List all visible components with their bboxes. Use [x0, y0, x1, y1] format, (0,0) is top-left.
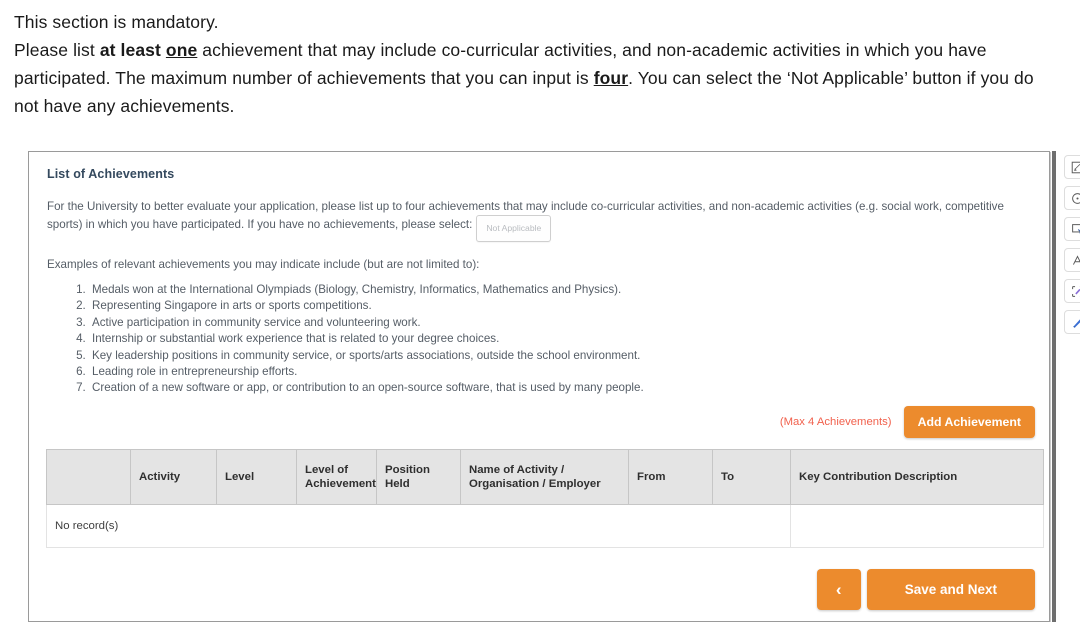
- page-title: List of Achievements: [47, 167, 1035, 181]
- intro-underline-one: one: [166, 40, 197, 60]
- column-header-position-held: Position Held: [377, 450, 461, 505]
- column-header-level: Level: [217, 450, 297, 505]
- intro-underline-four: four: [594, 68, 628, 88]
- table-row: No record(s): [47, 505, 1044, 548]
- list-item: Creation of a new software or app, or co…: [89, 380, 1035, 396]
- intro-line-2: Please list at least one achievement tha…: [14, 36, 1060, 120]
- column-header-key-contribution: Key Contribution Description: [791, 450, 1044, 505]
- list-item: Key leadership positions in community se…: [89, 348, 1035, 364]
- achievements-table-wrapper: Activity Level Level of Achievement Posi…: [46, 449, 1044, 548]
- list-item: Representing Singapore in arts or sports…: [89, 298, 1035, 314]
- footer-button-group: ‹ Save and Next: [817, 569, 1035, 610]
- save-and-next-button[interactable]: Save and Next: [867, 569, 1035, 610]
- column-header-from: From: [629, 450, 713, 505]
- annotation-toolbar: [1064, 155, 1080, 334]
- intro-text-part-1: Please list: [14, 40, 100, 60]
- max-achievements-note: (Max 4 Achievements): [780, 416, 892, 428]
- text-annotation-icon[interactable]: [1064, 248, 1080, 272]
- column-header-to: To: [713, 450, 791, 505]
- add-achievement-row: (Max 4 Achievements) Add Achievement: [780, 406, 1035, 438]
- panel-scrollbar[interactable]: [1052, 151, 1056, 622]
- empty-state-message: No record(s): [47, 505, 791, 548]
- intro-bold-at-least: at least: [100, 40, 166, 60]
- intro-text: This section is mandatory. Please list a…: [14, 8, 1060, 120]
- empty-state-filler: [791, 505, 1044, 548]
- highlighter-pen-icon[interactable]: [1064, 310, 1080, 334]
- edit-annotation-icon[interactable]: [1064, 155, 1080, 179]
- previous-button[interactable]: ‹: [817, 569, 861, 610]
- column-header-level-of-achievement: Level of Achievement: [297, 450, 377, 505]
- list-item: Active participation in community servic…: [89, 315, 1035, 331]
- highlight-select-icon[interactable]: [1064, 279, 1080, 303]
- list-item: Medals won at the International Olympiad…: [89, 282, 1035, 298]
- column-header-select: [47, 450, 131, 505]
- achievements-panel: List of Achievements For the University …: [28, 151, 1050, 622]
- column-header-name-of-activity: Name of Activity / Organisation / Employ…: [461, 450, 629, 505]
- examples-list: Medals won at the International Olympiad…: [43, 282, 1035, 397]
- column-header-activity: Activity: [131, 450, 217, 505]
- intro-line-1: This section is mandatory.: [14, 8, 1060, 36]
- list-item: Leading role in entrepreneurship efforts…: [89, 364, 1035, 380]
- achievements-table-body: No record(s): [47, 505, 1044, 548]
- add-achievement-button[interactable]: Add Achievement: [904, 406, 1035, 438]
- achievements-table-head: Activity Level Level of Achievement Posi…: [47, 450, 1044, 505]
- achievements-table: Activity Level Level of Achievement Posi…: [46, 449, 1044, 548]
- stamp-icon[interactable]: [1064, 217, 1080, 241]
- comment-icon[interactable]: [1064, 186, 1080, 210]
- table-header-row: Activity Level Level of Achievement Posi…: [47, 450, 1044, 505]
- examples-lead-in: Examples of relevant achievements you ma…: [47, 256, 1035, 273]
- list-item: Internship or substantial work experienc…: [89, 331, 1035, 347]
- achievements-panel-inner: List of Achievements For the University …: [29, 152, 1049, 621]
- instructions-paragraph: For the University to better evaluate yo…: [47, 198, 1035, 242]
- not-applicable-button[interactable]: Not Applicable: [476, 215, 551, 242]
